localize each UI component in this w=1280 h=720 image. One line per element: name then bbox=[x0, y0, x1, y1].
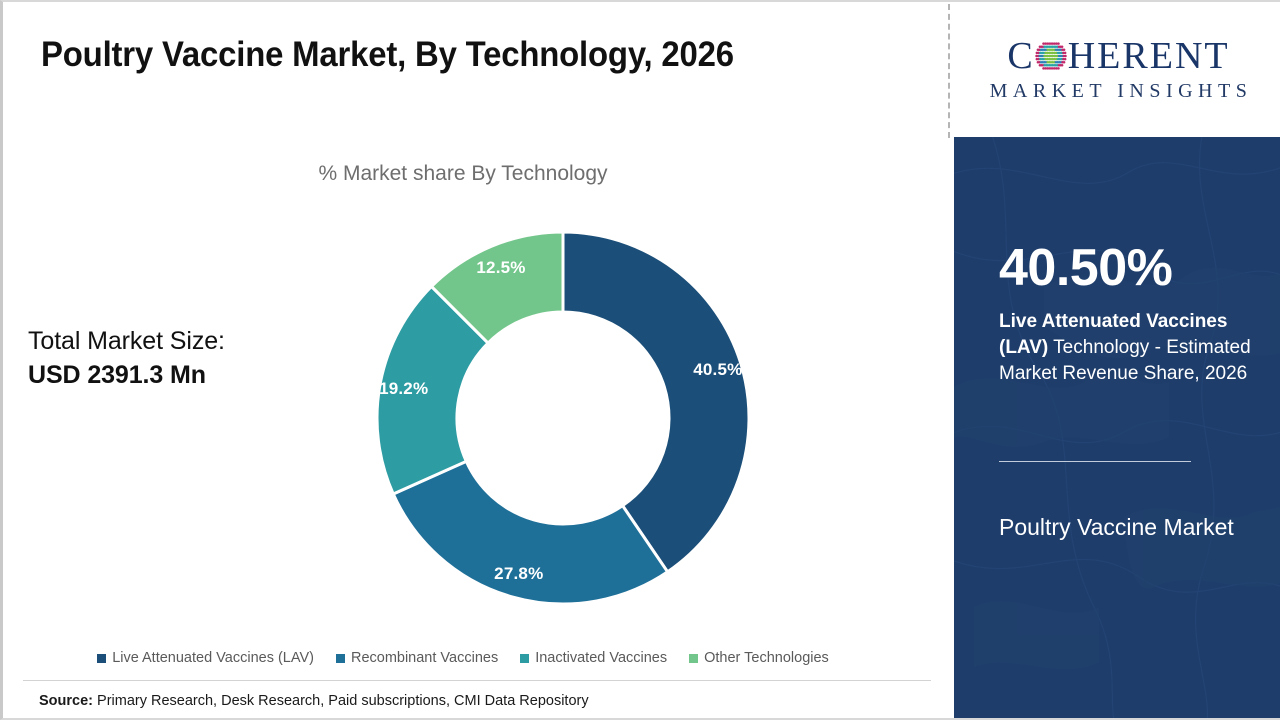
logo-letter-c: C bbox=[1007, 37, 1034, 75]
slice-label-recombinant: 27.8% bbox=[494, 564, 543, 584]
source-label: Source: bbox=[39, 693, 93, 709]
legend-swatch-icon bbox=[97, 654, 106, 663]
infographic-page: Poultry Vaccine Market, By Technology, 2… bbox=[0, 0, 1280, 720]
page-title: Poultry Vaccine Market, By Technology, 2… bbox=[41, 35, 868, 75]
donut-chart: 40.5% 27.8% 19.2% 12.5% bbox=[375, 230, 751, 606]
legend-label: Inactivated Vaccines bbox=[535, 650, 667, 666]
logo-wordmark: C HERENT bbox=[1007, 37, 1229, 75]
total-market-label: Total Market Size: bbox=[28, 324, 328, 358]
legend-item[interactable]: Live Attenuated Vaccines (LAV) bbox=[97, 650, 314, 666]
source-divider bbox=[23, 680, 931, 681]
logo-tagline: MARKET INSIGHTS bbox=[985, 80, 1253, 103]
slice-label-lav: 40.5% bbox=[693, 360, 742, 380]
brand-pane: C HERENT MARKET INSIGHTS bbox=[954, 2, 1280, 720]
source-note: Source: Primary Research, Desk Research,… bbox=[39, 693, 589, 709]
vertical-dashed-divider bbox=[948, 4, 950, 138]
legend-label: Live Attenuated Vaccines (LAV) bbox=[112, 650, 314, 666]
legend-item[interactable]: Inactivated Vaccines bbox=[520, 650, 667, 666]
logo: C HERENT MARKET INSIGHTS bbox=[954, 2, 1280, 137]
slice-label-other: 12.5% bbox=[476, 258, 525, 278]
legend-swatch-icon bbox=[520, 654, 529, 663]
legend-label: Recombinant Vaccines bbox=[351, 650, 498, 666]
legend-label: Other Technologies bbox=[704, 650, 829, 666]
slice-label-inactivated: 19.2% bbox=[379, 379, 428, 399]
legend-swatch-icon bbox=[336, 654, 345, 663]
highlight-description: Live Attenuated Vaccines (LAV) Technolog… bbox=[999, 309, 1251, 387]
highlight-percent: 40.50% bbox=[999, 242, 1172, 294]
legend-item[interactable]: Other Technologies bbox=[689, 650, 829, 666]
panel-market-name: Poultry Vaccine Market bbox=[999, 505, 1251, 549]
chart-subtitle: % Market share By Technology bbox=[3, 162, 923, 186]
world-map-texture bbox=[954, 137, 1280, 720]
total-market-value: USD 2391.3 Mn bbox=[28, 358, 328, 392]
logo-text-rest: HERENT bbox=[1068, 37, 1230, 75]
panel-divider bbox=[999, 461, 1191, 462]
donut-svg bbox=[375, 230, 751, 606]
source-value: Primary Research, Desk Research, Paid su… bbox=[93, 693, 589, 709]
total-market-block: Total Market Size: USD 2391.3 Mn bbox=[28, 324, 328, 392]
legend-item[interactable]: Recombinant Vaccines bbox=[336, 650, 498, 666]
chart-pane: Poultry Vaccine Market, By Technology, 2… bbox=[3, 2, 949, 720]
highlight-panel: 40.50% Live Attenuated Vaccines (LAV) Te… bbox=[954, 137, 1280, 720]
legend-swatch-icon bbox=[689, 654, 698, 663]
globe-icon bbox=[1035, 40, 1067, 72]
chart-legend: Live Attenuated Vaccines (LAV)Recombinan… bbox=[3, 650, 923, 666]
